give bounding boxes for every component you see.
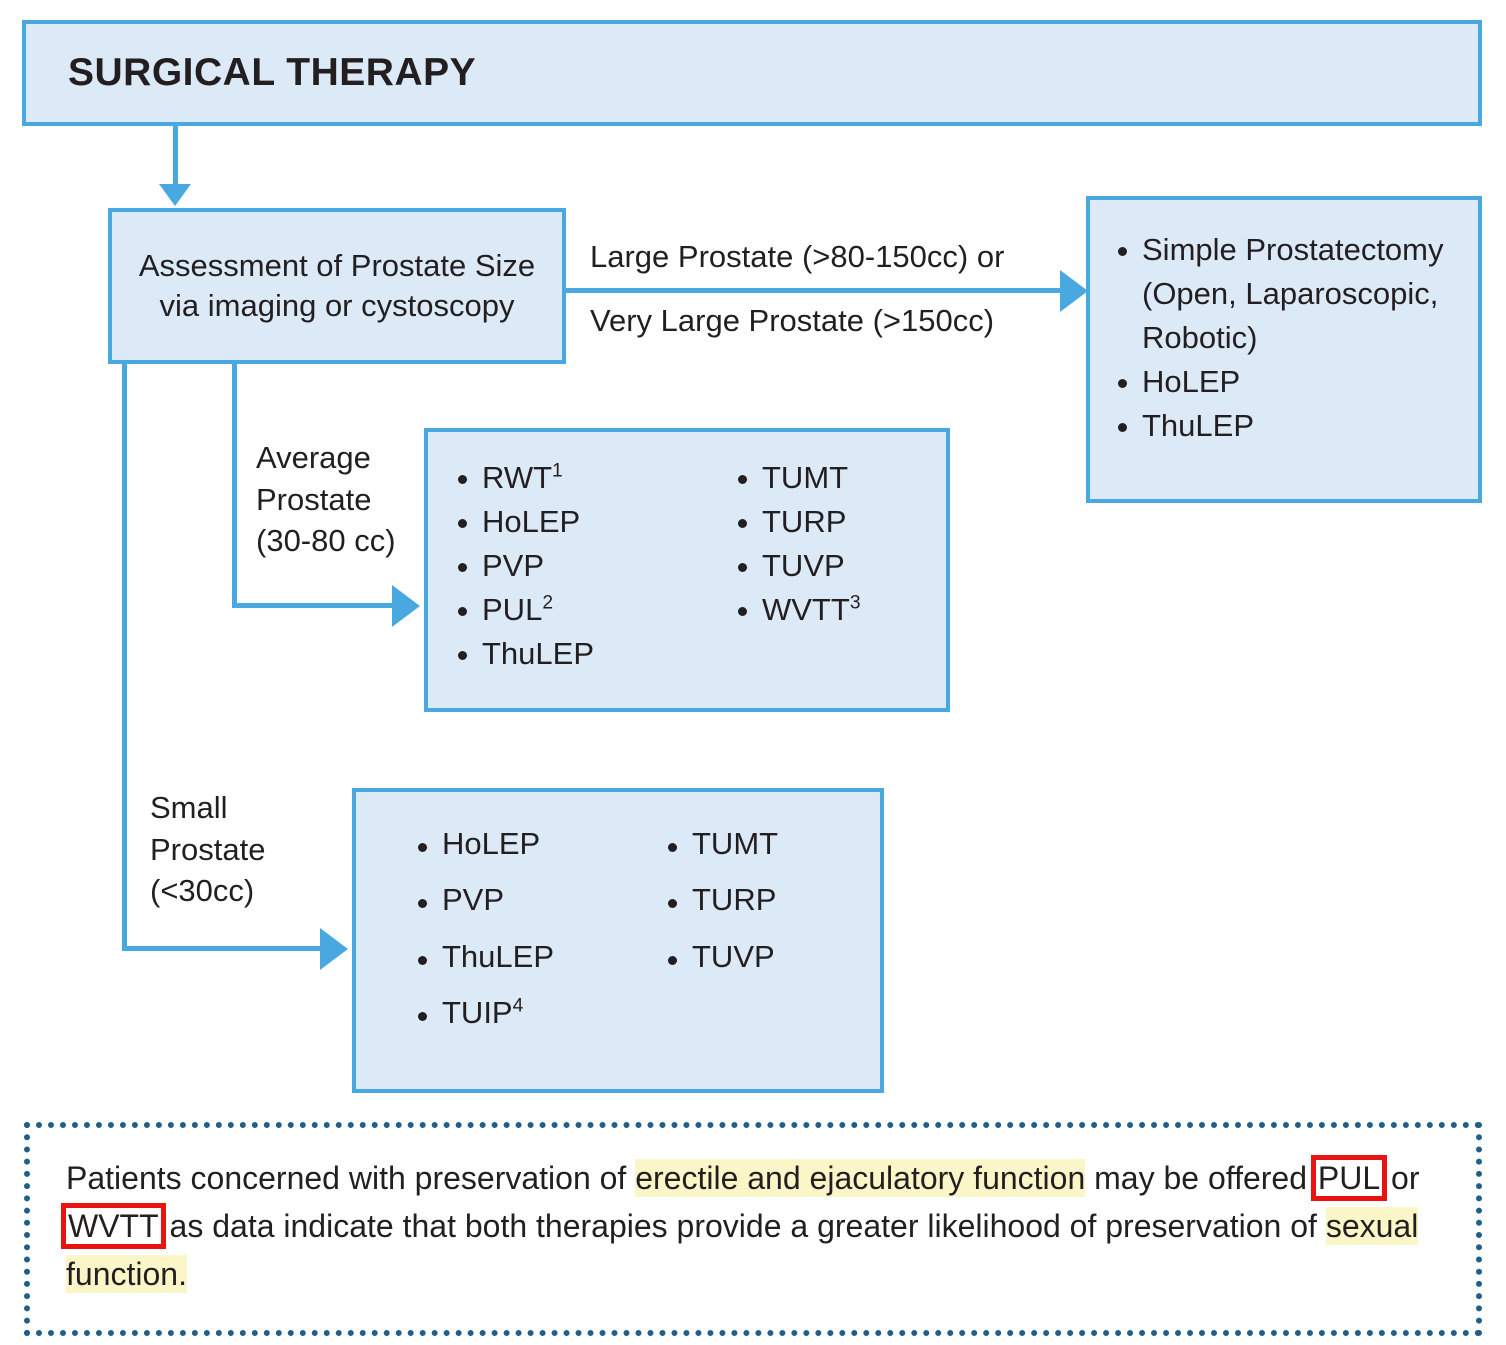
large-prostate-treatments-box: Simple Prostatectomy (Open, Laparoscopic… [1086, 196, 1482, 503]
header-box: SURGICAL THERAPY [22, 20, 1482, 126]
arrow-right-icon-large [1060, 270, 1088, 312]
list-item: TURP [732, 500, 861, 544]
arrow-down-icon-header [159, 184, 191, 206]
footnote-segment-2: may be offered [1085, 1160, 1316, 1196]
assessment-node: Assessment of Prostate Size via imaging … [108, 208, 566, 364]
footnote-redbox-wvtt: WVTT [66, 1208, 161, 1244]
list-item: Simple Prostatectomy [1112, 228, 1460, 272]
list-item: ThuLEP [452, 632, 722, 676]
surgical-therapy-flowchart: SURGICAL THERAPY Assessment of Prostate … [0, 0, 1506, 1345]
list-item: TUVP [662, 929, 778, 985]
small-treatment-columns: HoLEP PVP ThuLEP TUIP4 TUMT TURP TUVP [356, 816, 880, 1042]
edge-label-average-prostate: Average Prostate (30-80 cc) [256, 437, 426, 562]
connector-small-vertical [122, 364, 127, 951]
footnote-marker: 3 [850, 593, 861, 614]
edge-label-large-line-1: Large Prostate (>80-150cc) or [590, 236, 1004, 278]
connector-average-horizontal [232, 603, 398, 608]
connector-large-prostate [566, 288, 1066, 293]
list-item: (Open, Laparoscopic, [1112, 272, 1460, 316]
list-item: HoLEP [412, 816, 652, 872]
footnote-panel: Patients concerned with preservation of … [24, 1122, 1482, 1336]
arrow-right-icon-average [392, 585, 420, 627]
list-item: PVP [452, 544, 722, 588]
list-item: ThuLEP [1112, 404, 1460, 448]
list-item: RWT1 [452, 456, 722, 500]
list-item: TUIP4 [412, 985, 652, 1041]
page-title: SURGICAL THERAPY [26, 51, 476, 95]
large-prostate-treatment-list: Simple Prostatectomy (Open, Laparoscopic… [1112, 228, 1460, 448]
footnote-marker: 1 [552, 461, 563, 482]
list-item: TURP [662, 872, 778, 928]
footnote-text: Patients concerned with preservation of … [66, 1154, 1456, 1298]
connector-header-to-assessment [173, 126, 178, 186]
small-prostate-treatments-box: HoLEP PVP ThuLEP TUIP4 TUMT TURP TUVP [352, 788, 884, 1093]
list-item: TUMT [732, 456, 861, 500]
footnote-marker: 2 [542, 593, 553, 614]
footnote-redbox-pul: PUL [1316, 1160, 1382, 1196]
connector-small-horizontal [122, 946, 326, 951]
average-treatment-column-right: TUMT TURP TUVP WVTT3 [722, 456, 861, 676]
list-item: ThuLEP [412, 929, 652, 985]
list-item: HoLEP [1112, 360, 1460, 404]
list-item: TUMT [662, 816, 778, 872]
edge-label-small-prostate: Small Prostate (<30cc) [150, 787, 320, 912]
average-treatment-columns: RWT1 HoLEP PVP PUL2 ThuLEP TUMT TURP TUV… [428, 456, 946, 676]
list-item: Robotic) [1112, 316, 1460, 360]
edge-label-large-line-2: Very Large Prostate (>150cc) [590, 300, 994, 342]
average-prostate-treatments-box: RWT1 HoLEP PVP PUL2 ThuLEP TUMT TURP TUV… [424, 428, 950, 712]
average-treatment-column-left: RWT1 HoLEP PVP PUL2 ThuLEP [428, 456, 722, 676]
list-item: HoLEP [452, 500, 722, 544]
assessment-line-2: via imaging or cystoscopy [160, 286, 515, 326]
footnote-segment-4: as data indicate that both therapies pro… [161, 1208, 1326, 1244]
list-item: PVP [412, 872, 652, 928]
footnote-segment-1: Patients concerned with preservation of [66, 1160, 635, 1196]
list-item: WVTT3 [732, 588, 861, 632]
small-treatment-column-left: HoLEP PVP ThuLEP TUIP4 [356, 816, 652, 1042]
footnote-segment-3: or [1382, 1160, 1419, 1196]
list-item: PUL2 [452, 588, 722, 632]
arrow-right-icon-small [320, 928, 348, 970]
small-treatment-column-right: TUMT TURP TUVP [652, 816, 778, 1042]
footnote-highlight-erectile: erectile and ejaculatory function [635, 1159, 1085, 1197]
footnote-marker: 4 [513, 996, 524, 1017]
assessment-line-1: Assessment of Prostate Size [139, 246, 535, 286]
connector-average-vertical [232, 364, 237, 608]
list-item: TUVP [732, 544, 861, 588]
